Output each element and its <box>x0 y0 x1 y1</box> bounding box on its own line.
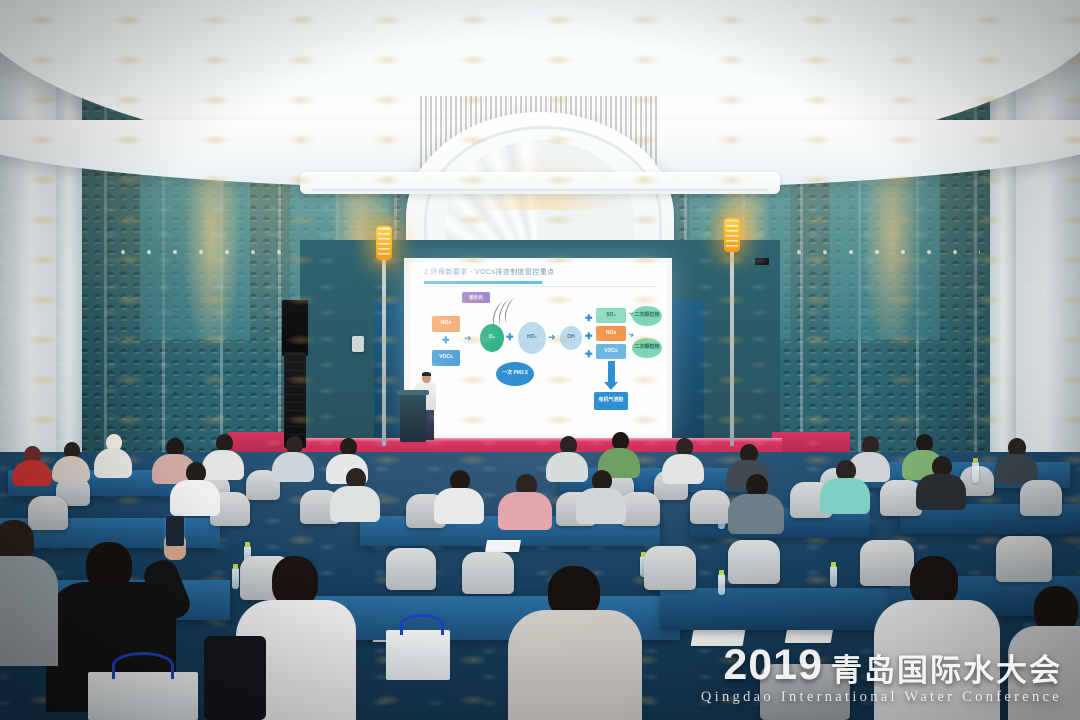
tote-bag <box>88 672 198 720</box>
smartphone <box>166 516 184 546</box>
chair <box>860 540 914 586</box>
chair <box>728 540 780 584</box>
watermark-chinese-title: 青岛国际水大会 <box>831 655 1062 686</box>
water-bottle <box>972 462 979 483</box>
watermark-year: 2019 <box>723 645 823 686</box>
tote-bag <box>386 630 450 680</box>
event-watermark: 2019 青岛国际水大会 Qingdao International Water… <box>701 645 1062 706</box>
tote-handle <box>112 652 174 679</box>
backpack <box>204 636 266 720</box>
handout-paper <box>485 540 521 552</box>
water-bottle <box>830 566 837 587</box>
water-bottle <box>232 568 239 589</box>
chair <box>386 548 436 590</box>
chair <box>1020 480 1062 516</box>
chair <box>690 490 730 524</box>
chair <box>462 552 514 594</box>
watermark-english-title: Qingdao International Water Conference <box>701 689 1062 706</box>
chair <box>996 536 1052 582</box>
water-bottle <box>718 574 725 595</box>
conference-photo: 2 环保新要求 - VOCs排查制度管控重点 紫外光 NOx ✚ VOCs ➜ … <box>0 0 1080 720</box>
chair <box>644 546 696 590</box>
chair <box>620 492 660 526</box>
chair <box>28 496 68 530</box>
tote-handle <box>400 614 444 635</box>
